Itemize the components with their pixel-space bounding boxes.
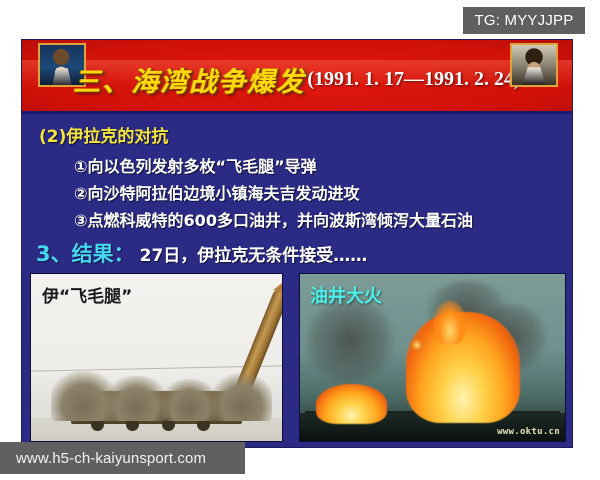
presentation-slide: 三、海湾战争爆发 (1991. 1. 17—1991. 2. 24) (2)伊拉… <box>22 40 572 447</box>
photo-oil-fire: 油井大火 www.oktu.cn <box>299 273 566 442</box>
site-url-overlay: www.h5-ch-kaiyunsport.com <box>0 442 245 474</box>
slide-body: (2)伊拉克的对抗 ①向以色列发射多枚“飞毛腿”导弹 ②向沙特阿拉伯边境小镇海夫… <box>22 111 572 447</box>
slide-title-row: 三、海湾战争爆发 (1991. 1. 17—1991. 2. 24) <box>22 40 572 111</box>
portrait-right-image <box>512 45 556 85</box>
list-item: ③点燃科威特的600多口油井，并向波斯湾倾泻大量石油 <box>74 207 473 231</box>
result-text: 27日，伊拉克无条件接受…… <box>140 241 368 266</box>
list-item: ①向以色列发射多枚“飞毛腿”导弹 <box>74 153 317 177</box>
photo-caption-left: 伊“飞毛腿” <box>42 282 132 307</box>
flame-small <box>316 384 388 424</box>
bush-shrub <box>212 373 272 421</box>
result-line: 3、结果： 27日，伊拉克无条件接受…… <box>36 238 367 268</box>
tg-handle-badge: TG: MYYJJPP <box>463 7 585 34</box>
page-title: 三、海湾战争爆发 <box>73 60 305 99</box>
screenshot-stage: TG: MYYJJPP 三、海湾战争爆发 (1991. 1. 17—1991. … <box>0 0 600 480</box>
result-label: 3、结果： <box>36 238 135 268</box>
flame-tip <box>433 301 467 344</box>
bush-shrub <box>106 376 166 421</box>
slide-title-banner: 三、海湾战争爆发 (1991. 1. 17—1991. 2. 24) <box>22 40 572 114</box>
sub-heading: (2)伊拉克的对抗 <box>39 122 168 147</box>
photo-caption-right: 油井大火 <box>310 282 382 308</box>
smoke-plume <box>305 297 395 384</box>
photo-watermark: www.oktu.cn <box>497 427 560 437</box>
bush-shrub <box>162 379 217 421</box>
list-item: ②向沙特阿拉伯边境小镇海夫吉发动进攻 <box>74 180 360 204</box>
portrait-right <box>510 43 558 87</box>
title-date-range: (1991. 1. 17—1991. 2. 24) <box>307 68 520 91</box>
photo-scud-launcher: 伊“飞毛腿” <box>30 273 283 442</box>
